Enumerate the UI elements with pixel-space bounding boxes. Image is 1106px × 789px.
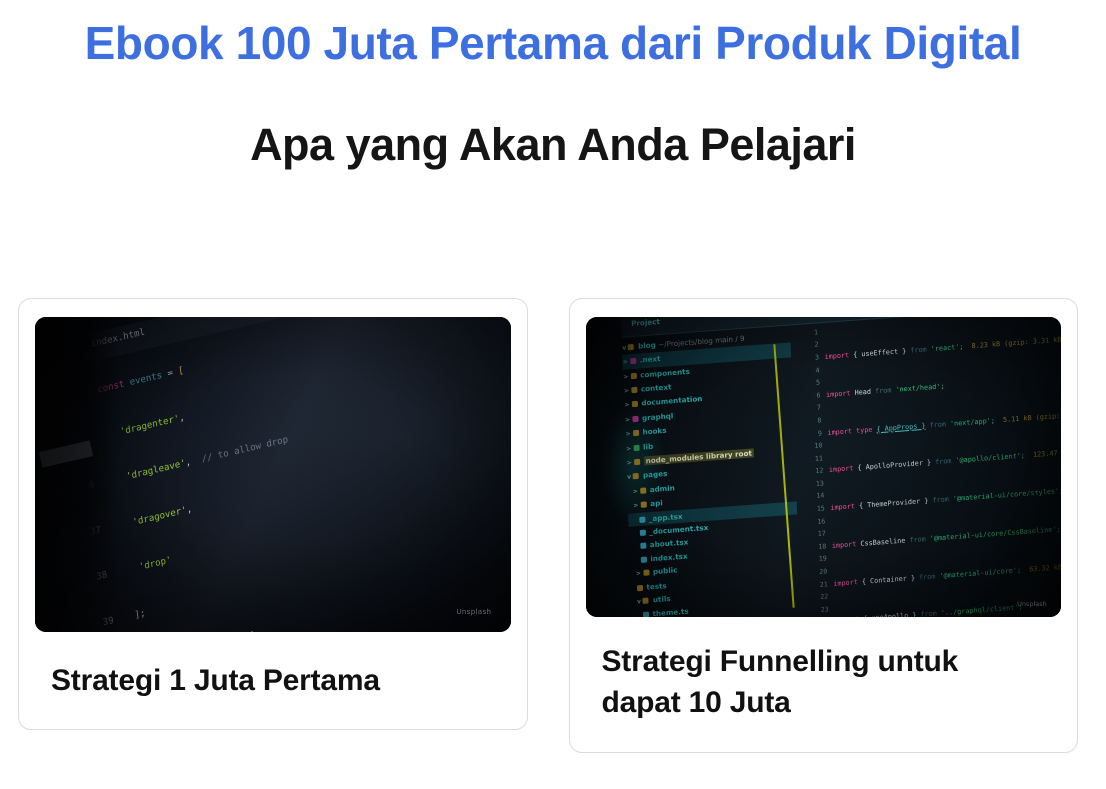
lesson-card-grid: index.html 34const events = [ 35 'dragen… [18, 298, 1078, 753]
card-title: Strategi 1 Juta Pertama [35, 632, 511, 709]
ide-project-label: Project [631, 317, 660, 328]
card-title: Strategi Funnelling untuk dapat 10 Juta [586, 617, 1062, 732]
ide-surface: Project index.ts env.local _app.tsx Add … [586, 317, 1062, 617]
card-image-code-editor: index.html 34const events = [ 35 'dragen… [35, 317, 511, 632]
ebook-landing-page: Ebook 100 Juta Pertama dari Produk Digit… [0, 0, 1106, 789]
ide-code-surface: import { useEffect } from 'react'; 8.23 … [823, 317, 1061, 617]
ide-project-tree: vblog ~/Projects/blog main / 9 >.next >c… [622, 328, 807, 617]
photo-shadow-left [35, 317, 121, 632]
photo-watermark: Unsplash [1017, 600, 1047, 608]
page-title: Ebook 100 Juta Pertama dari Produk Digit… [0, 0, 1106, 73]
section-title: Apa yang Akan Anda Pelajari [0, 73, 1106, 173]
photo-watermark: Unsplash [456, 608, 491, 616]
lesson-card-strategi-1-juta-pertama[interactable]: index.html 34const events = [ 35 'dragen… [18, 298, 528, 730]
lesson-card-strategi-funnelling[interactable]: Project index.ts env.local _app.tsx Add … [569, 298, 1079, 753]
card-image-ide-project: Project index.ts env.local _app.tsx Add … [586, 317, 1062, 617]
